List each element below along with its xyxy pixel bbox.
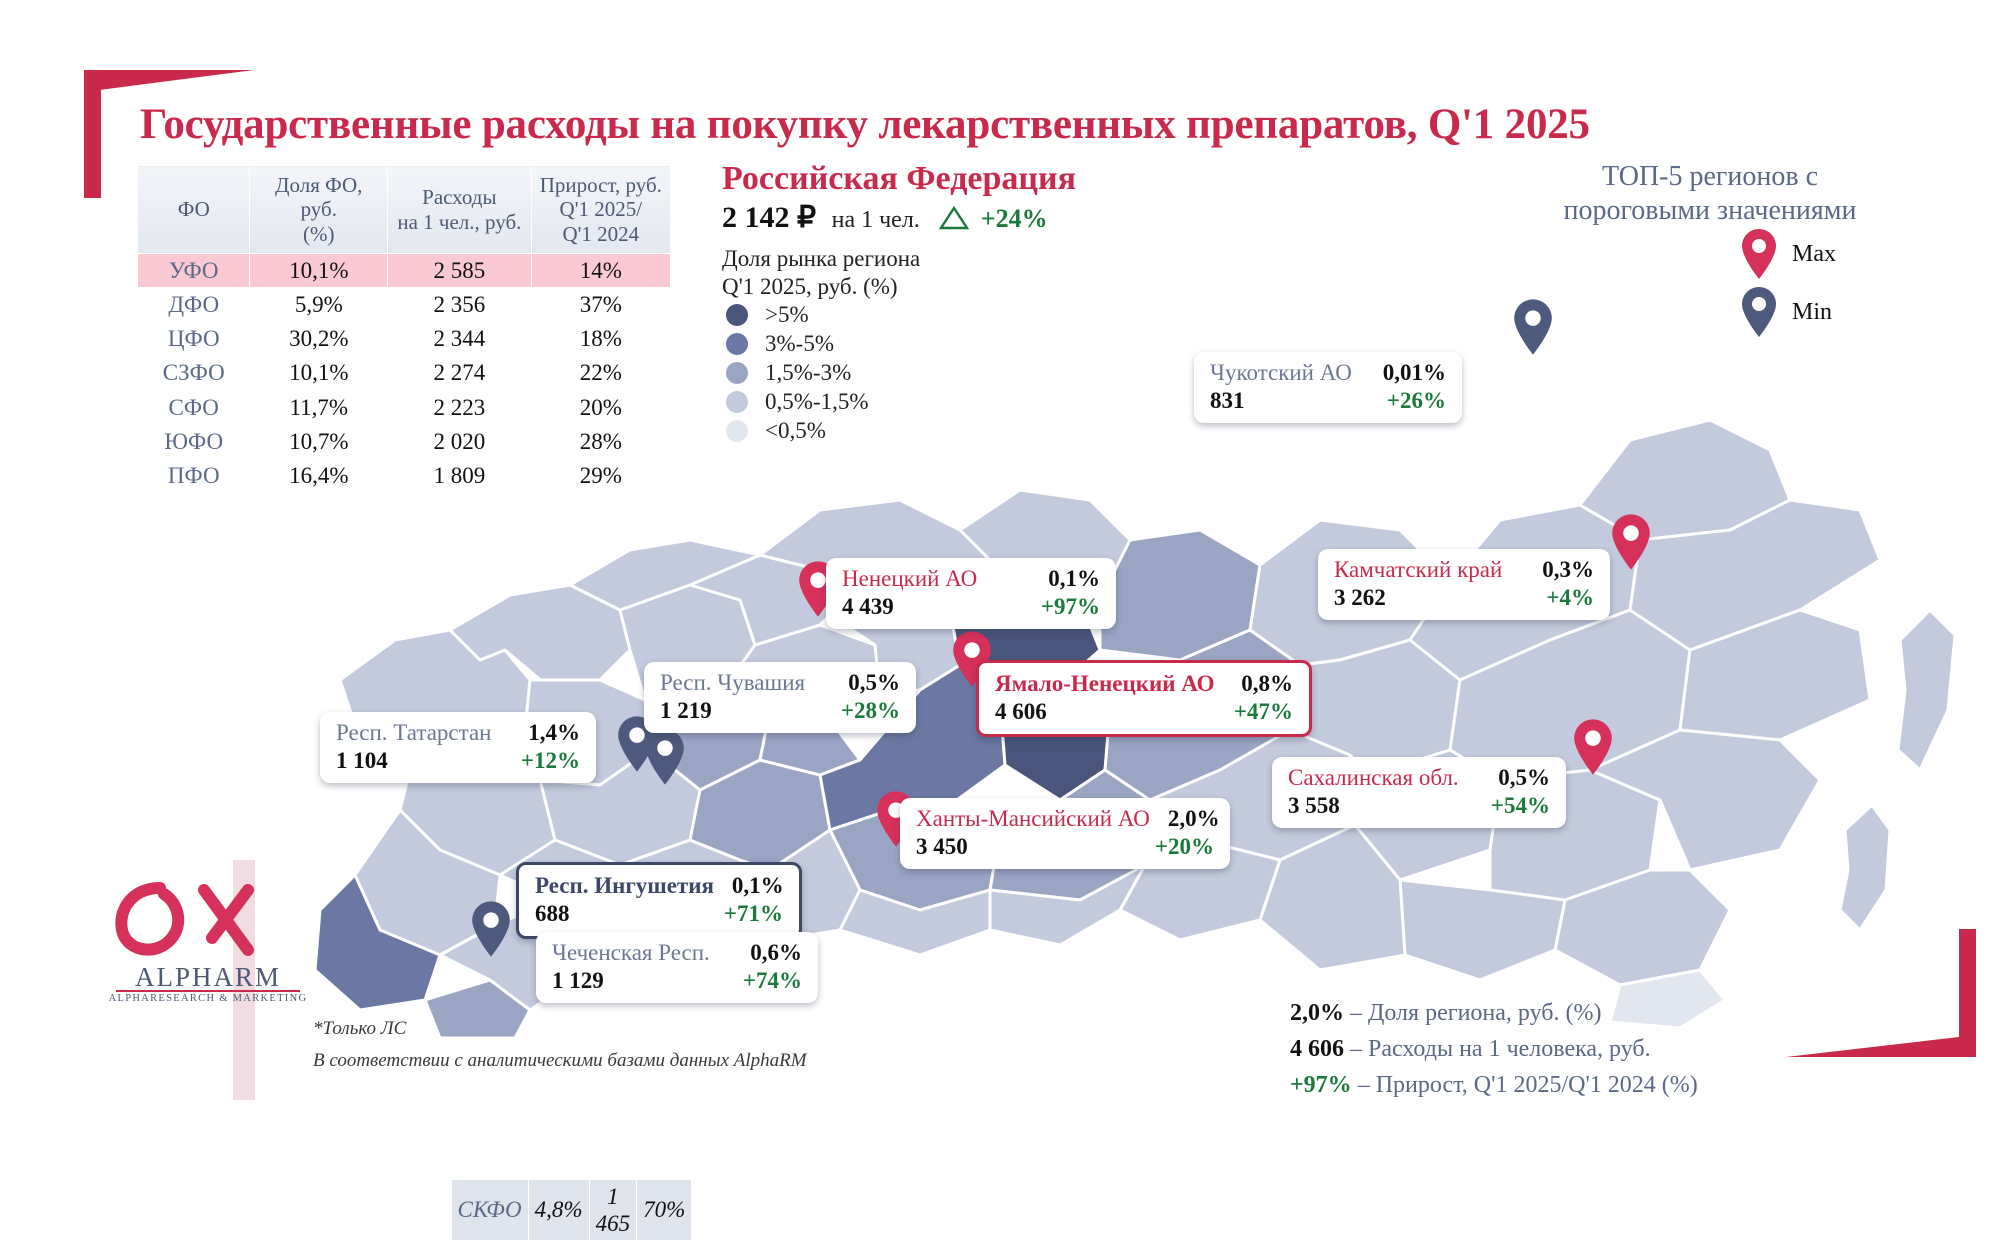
callout-spend: 3 450 [916,833,968,861]
callout-spend: 688 [535,900,570,928]
callout-chechnya[interactable]: Чеченская Респ. 0,6% 1 129 +74% [536,932,818,1003]
footnote: *Только ЛС В соответствии с аналитически… [313,1013,807,1078]
value-key-row: +97% – Прирост, Q'1 2025/Q'1 2024 (%) [1290,1067,1698,1103]
alpharm-mark-icon [108,880,308,962]
callout-sakhalin[interactable]: Сахалинская обл. 0,5% 3 558 +54% [1272,757,1566,828]
callout-region-name: Камчатский край [1334,556,1502,584]
callout-share: 0,6% [750,939,802,967]
logo-name: ALPHARM [108,962,308,993]
callout-chuvashia[interactable]: Респ. Чувашия 0,5% 1 219 +28% [644,662,916,733]
callout-region-name: Респ. Чувашия [660,669,805,697]
callout-chukotka[interactable]: Чукотский АО 0,01% 831 +26% [1194,352,1462,423]
value-key-description: – Прирост, Q'1 2025/Q'1 2024 (%) [1352,1072,1698,1098]
infographic-root: Государственные расходы на покупку лекар… [0,0,2000,1125]
value-key-legend: 2,0% – Доля региона, руб. (%)4 606 – Рас… [1290,995,1698,1103]
callout-region-name: Сахалинская обл. [1288,764,1459,792]
callout-nenets[interactable]: Ненецкий АО 0,1% 4 439 +97% [826,558,1116,629]
callout-growth: +20% [1155,833,1214,861]
cell-fo: УФО [138,254,250,288]
value-key-description: – Доля региона, руб. (%) [1344,1000,1601,1026]
callout-spend: 1 104 [336,747,388,775]
map-pin-sakhalin[interactable] [1572,718,1614,776]
callout-growth: +54% [1491,792,1550,820]
value-key-row: 4 606 – Расходы на 1 человека, руб. [1290,1031,1698,1067]
value-key: 2,0% [1290,1000,1344,1026]
callout-share: 0,3% [1542,556,1594,584]
cell-growth: 70% [637,1179,692,1240]
callout-share: 0,5% [848,669,900,697]
map-pin-tatarstan[interactable] [644,728,686,786]
callout-region-name: Ямало-Ненецкий АО [995,670,1215,698]
callout-growth: +97% [1041,593,1100,621]
map-pin-chukotka[interactable] [1512,298,1554,356]
callout-growth: +12% [521,747,580,775]
callout-spend: 1 219 [660,697,712,725]
column-header-fo: ФО [138,166,250,254]
callout-ingushetia[interactable]: Респ. Ингушетия 0,1% 688 +71% [516,862,802,939]
table-row: СКФО4,8%1 46570% [451,1179,693,1241]
callout-growth: +47% [1234,698,1293,726]
callout-share: 0,5% [1498,764,1550,792]
map-pin-ingushetia[interactable] [470,900,512,958]
cell-fo: ДФО [138,288,250,322]
rf-title: Российская Федерация [722,160,1076,198]
value-key: 4 606 [1290,1036,1344,1062]
callout-region-name: Ханты-Мансийский АО [916,805,1150,833]
callout-khanty-mansi[interactable]: Ханты-Мансийский АО 2,0% 3 450 +20% [900,798,1230,869]
callout-growth: +28% [841,697,900,725]
cell-fo: ЦФО [138,322,250,356]
cell-per-capita: 1 465 [589,1179,637,1240]
callout-yamalo-nenets[interactable]: Ямало-Ненецкий АО 0,8% 4 606 +47% [976,660,1312,737]
region-shape-kamchatka [1898,610,1955,770]
callout-kamchatka[interactable]: Камчатский край 0,3% 3 262 +4% [1318,549,1610,620]
cell-fo: СКФО [451,1179,528,1240]
callout-spend: 3 558 [1288,792,1340,820]
callout-share: 1,4% [528,719,580,747]
alpharm-logo: ALPHARM ALPHARESEARCH & MARKETING [108,880,308,1010]
callout-share: 0,1% [1048,565,1100,593]
callout-growth: +26% [1387,387,1446,415]
region-shape-sakhalin [1840,805,1890,930]
callout-growth: +4% [1546,584,1594,612]
callout-spend: 1 129 [552,967,604,995]
callout-spend: 4 606 [995,698,1047,726]
callout-spend: 4 439 [842,593,894,621]
callout-region-name: Респ. Ингушетия [535,872,714,900]
cell-fo: СФО [138,390,250,424]
callout-region-name: Чукотский АО [1210,359,1352,387]
map-pin-kamchatka[interactable] [1610,513,1652,571]
cell-fo: СЗФО [138,356,250,390]
value-key: +97% [1290,1072,1352,1098]
callout-spend: 3 262 [1334,584,1386,612]
callout-share: 0,1% [732,872,784,900]
footnote-line-2: В соответствии с аналитическими базами д… [313,1045,807,1077]
callout-region-name: Респ. Татарстан [336,719,491,747]
cell-share: 4,8% [528,1179,589,1240]
cell-fo: ПФО [138,458,250,492]
value-key-row: 2,0% – Доля региона, руб. (%) [1290,995,1698,1031]
footnote-line-1: *Только ЛС [313,1013,807,1045]
callout-growth: +74% [743,967,802,995]
callout-region-name: Ненецкий АО [842,565,977,593]
callout-spend: 831 [1210,387,1245,415]
callout-share: 0,8% [1241,670,1293,698]
callout-tatarstan[interactable]: Респ. Татарстан 1,4% 1 104 +12% [320,712,596,783]
page-title: Государственные расходы на покупку лекар… [140,100,1740,149]
cell-fo: ЮФО [138,424,250,458]
callout-share: 0,01% [1383,359,1446,387]
callout-share: 2,0% [1168,805,1220,833]
callout-region-name: Чеченская Респ. [552,939,710,967]
logo-subtitle: ALPHARESEARCH & MARKETING [108,993,308,1004]
callout-growth: +71% [724,900,783,928]
value-key-description: – Расходы на 1 человека, руб. [1344,1036,1651,1062]
